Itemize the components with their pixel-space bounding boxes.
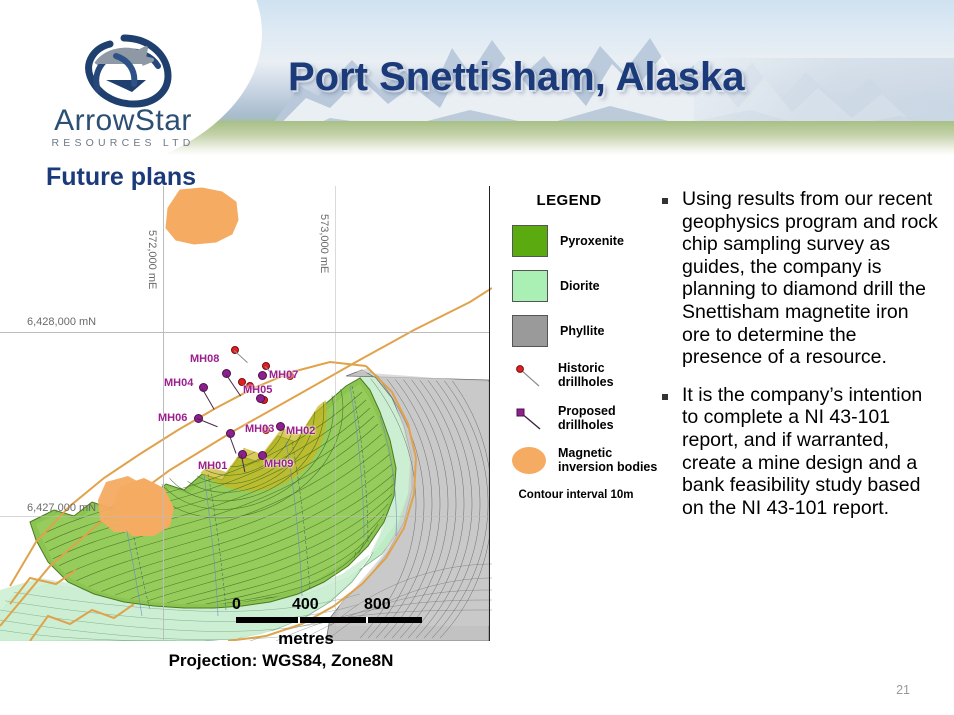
arrowstar-logo: ArrowStar RESOURCES LTD (28, 34, 218, 156)
drillhole-marker-MH07[interactable] (258, 371, 267, 380)
legend-item-diorite: Diorite (498, 270, 658, 302)
drillhole-label-MH06: MH06 (158, 412, 187, 424)
legend-item-historic-drillholes: Historic drillholes (498, 360, 658, 390)
logo-wordmark: ArrowStar (28, 104, 218, 138)
scale-tick-400: 400 (292, 596, 319, 614)
bullet-list: Using results from our recent geophysics… (662, 188, 940, 535)
logo-tagline: RESOURCES LTD (28, 137, 218, 149)
swatch-pyroxenite (512, 225, 548, 257)
page-title: Port Snettisham, Alaska (288, 55, 888, 100)
grid-line-vertical-573000 (335, 186, 336, 641)
drillhole-label-MH03: MH03 (245, 423, 274, 435)
scale-tick-800: 800 (364, 596, 391, 614)
drillhole-label-MH08: MH08 (190, 353, 219, 365)
legend-label-pyroxenite: Pyroxenite (560, 234, 624, 248)
legend-label-diorite: Diorite (560, 279, 600, 293)
page-number: 21 (896, 683, 910, 697)
scale-bar (236, 617, 422, 623)
swatch-phyllite (512, 315, 548, 347)
scale-unit-label: metres (0, 629, 492, 649)
bullet-item: Using results from our recent geophysics… (662, 188, 940, 369)
drillhole-label-MH05: MH05 (243, 384, 272, 396)
drillhole-label-MH02: MH02 (286, 425, 315, 437)
drillhole-label-MH04: MH04 (164, 377, 193, 389)
legend-item-pyroxenite: Pyroxenite (498, 225, 658, 257)
geology-map[interactable]: 572,000 mE 573,000 mE 6,428,000 mN 6,427… (0, 186, 492, 641)
map-projection-label: Projection: WGS84, Zone8N (0, 651, 492, 671)
scale-tick-labels: 0 400 800 (236, 596, 436, 616)
drillhole-historic-icon (512, 360, 546, 390)
legend-item-phyllite: Phyllite (498, 315, 658, 347)
drillhole-marker-MH02[interactable] (276, 422, 285, 431)
legend-item-magnetic-inversion-bodies: Magnetic inversion bodies (498, 446, 658, 475)
bullet-marker-icon (662, 198, 668, 204)
map-legend: LEGEND Pyroxenite Diorite Phyllite Histo… (498, 192, 658, 501)
map-frame-right-border (489, 186, 490, 641)
scale-tick-0: 0 (232, 596, 241, 614)
grid-line-horizontal-6428000 (0, 332, 489, 333)
legend-title: LEGEND (498, 192, 658, 209)
arrowstar-swirl-icon (76, 34, 172, 108)
drillhole-label-MH01: MH01 (198, 460, 227, 472)
grid-label-6428000-mN: 6,428,000 mN (27, 316, 96, 328)
legend-label-historic-drillholes: Historic drillholes (558, 361, 658, 390)
section-heading: Future plans (46, 163, 196, 192)
grid-label-572000-mE: 572,000 mE (146, 230, 158, 289)
bullet-marker-icon (662, 394, 668, 400)
legend-label-proposed-drillholes: Proposed drillholes (558, 404, 658, 433)
swatch-diorite (512, 270, 548, 302)
legend-item-proposed-drillholes: Proposed drillholes (498, 403, 658, 433)
bullet-item: It is the company’s intention to complet… (662, 384, 940, 520)
grid-label-573000-mE: 573,000 mE (318, 214, 330, 273)
drillhole-proposed-icon (512, 403, 546, 433)
magnetic-body-overlay (0, 186, 492, 641)
legend-label-magnetic-inversion-bodies: Magnetic inversion bodies (558, 446, 658, 475)
bullet-text: Using results from our recent geophysics… (682, 188, 940, 369)
map-figure: 572,000 mE 573,000 mE 6,428,000 mN 6,427… (0, 186, 492, 686)
bullet-text: It is the company’s intention to complet… (682, 384, 940, 520)
legend-label-phyllite: Phyllite (560, 324, 604, 338)
grid-label-6427000-mN: 6,427,000 mN (27, 502, 96, 514)
swatch-magnetic-inversion (512, 447, 546, 474)
contour-interval-note: Contour interval 10m (498, 489, 658, 501)
grid-line-horizontal-6427000 (0, 516, 489, 517)
drillhole-label-MH09: MH09 (264, 458, 293, 470)
drillhole-label-MH07: MH07 (269, 369, 298, 381)
